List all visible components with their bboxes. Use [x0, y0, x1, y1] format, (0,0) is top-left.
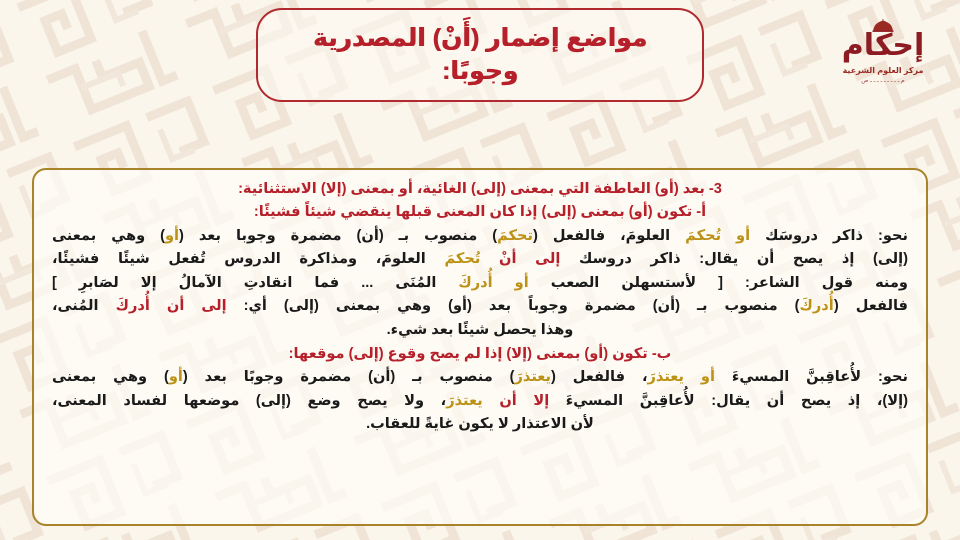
- text-segment: (إلى) إذ يصح أن يقال: ذاكر دروسك: [560, 251, 908, 267]
- text-segment: فالفعل (: [834, 298, 908, 314]
- text-segment: ، فالفعل (: [551, 369, 647, 385]
- a-analysis-1: فالفعل (أُدركَ) منصوب بـ (أن) مضمرة وجوب…: [52, 295, 908, 319]
- b-analysis: لأن الاعتذار لا يكون غايةً للعقاب.: [52, 413, 908, 437]
- text-segment: نحو: ذاكر دروسَك: [750, 228, 908, 244]
- text-segment: يعتذرَ: [515, 369, 552, 385]
- text-segment: [483, 393, 500, 409]
- text-segment: أو تُحكمَ: [685, 228, 750, 244]
- text-segment: أُدركَ: [800, 298, 834, 314]
- a-example-2: (إلى) إذ يصح أن يقال: ذاكر دروسك إلى أنْ…: [52, 248, 908, 272]
- text-segment: العلومَ، ومذاكرة الدروس تُفعل شيئًا فشيئ…: [52, 251, 444, 267]
- text-segment: ) منصوب بـ (أن) مضمرة وجوبا بعد (: [179, 228, 497, 244]
- text-segment: أو أُدركَ: [458, 275, 528, 291]
- text-segment: ) وهي بمعنى: [52, 228, 165, 244]
- a-analysis-2: وهذا يحصل شيئًا بعد شيء.: [52, 319, 908, 343]
- text-segment: [480, 251, 499, 267]
- text-segment: أو يعتذرَ: [648, 369, 715, 385]
- b-example-2: (إلا)، إذ يصح أن يقال: لأُعاقِبنَّ المسي…: [52, 389, 908, 413]
- text-segment: المُنَى ... فما انقادتِ الآمالُ إلا لصَا…: [52, 275, 458, 291]
- section-a-body: نحو: ذاكر دروسَك أو تُحكمَ العلومَ، فالف…: [52, 224, 908, 342]
- text-segment: لأن الاعتذار لا يكون غايةً للعقاب.: [366, 416, 594, 432]
- a-example-1: نحو: ذاكر دروسَك أو تُحكمَ العلومَ، فالف…: [52, 224, 908, 248]
- section-a-heading: أ- تكون (أو) بمعنى (إلى) إذا كان المعنى …: [52, 201, 908, 225]
- slide-title-box: مواضع إضمار (أَنْ) المصدرية وجوبًا:: [256, 8, 704, 102]
- text-segment: أو: [165, 228, 179, 244]
- text-segment: إلى أن أُدركَ: [116, 298, 227, 314]
- content-heading-main: 3- بعد (أو) العاطفة التي بمعنى (إلى) الغ…: [52, 177, 908, 201]
- text-segment: العلومَ، فالفعل (: [533, 228, 685, 244]
- logo-subtitle: مركز العلوم الشرعية: [843, 66, 924, 75]
- section-b-body: نحو: لأُعاقِبنَّ المسيءَ أو يعتذرَ، فالف…: [52, 366, 908, 437]
- page-title: مواضع إضمار (أَنْ) المصدرية وجوبًا:: [258, 22, 702, 88]
- text-segment: يعتذرَ: [446, 393, 483, 409]
- text-segment: أو: [169, 369, 183, 385]
- text-segment: ) منصوب بـ (أن) مضمرة وجوبًا بعد (: [183, 369, 515, 385]
- mosque-dome-icon: [872, 19, 894, 32]
- brand-logo: إحكام مركز العلوم الشرعية م ـ ـ ـ ـ ـ ـ …: [824, 14, 942, 100]
- logo-subtitle-secondary: م ـ ـ ـ ـ ـ ـ ـ ـ ـ ص: [861, 77, 904, 84]
- section-b-heading: ب- تكون (أو) بمعنى (إلا) إذا لم يصح وقوع…: [52, 342, 908, 366]
- a-poem: ومنه قول الشاعر: [ لأستسهلن الصعب أو أُد…: [52, 271, 908, 295]
- text-segment: ) منصوب بـ (أن) مضمرة وجوباً بعد (أو) وه…: [227, 298, 800, 314]
- text-segment: وهذا يحصل شيئًا بعد شيء.: [387, 322, 574, 338]
- text-segment: تُحكمَ: [444, 251, 480, 267]
- logo-wordmark: إحكام: [842, 31, 925, 61]
- text-segment: إلا أن: [499, 393, 549, 409]
- text-segment: المُنى،: [52, 298, 116, 314]
- text-segment: ) وهي بمعنى: [52, 369, 169, 385]
- text-segment: إلى أنْ: [499, 251, 560, 267]
- lesson-content-box: 3- بعد (أو) العاطفة التي بمعنى (إلى) الغ…: [32, 168, 928, 526]
- b-example-1: نحو: لأُعاقِبنَّ المسيءَ أو يعتذرَ، فالف…: [52, 366, 908, 390]
- text-segment: ومنه قول الشاعر: [ لأستسهلن الصعب: [529, 275, 908, 291]
- text-segment: نحو: لأُعاقِبنَّ المسيءَ: [715, 369, 908, 385]
- logo-word-text: إحكام: [842, 29, 925, 62]
- text-segment: تحكمَ: [497, 228, 533, 244]
- text-segment: ، ولا يصح وضع (إلى) موضعها لفساد المعنى،: [52, 393, 446, 409]
- text-segment: (إلا)، إذ يصح أن يقال: لأُعاقِبنَّ المسي…: [549, 393, 908, 409]
